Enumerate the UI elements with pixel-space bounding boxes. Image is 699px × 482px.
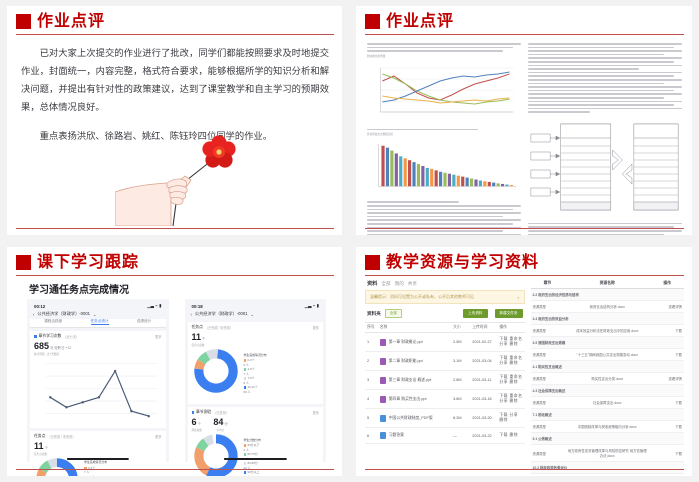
ppt-file-icon [380, 377, 386, 384]
col-name: 名称 [378, 323, 451, 333]
nav-bar: ‹ 公共经济学（财政学）-0001 ⌄ [188, 310, 324, 319]
red-square-bullet-icon [365, 14, 380, 29]
card-more-link[interactable]: 更多 [313, 325, 319, 330]
home-indicator [224, 458, 286, 461]
legend-value: 60 人 [244, 390, 267, 395]
resource-type: 资源类型 [531, 325, 565, 337]
card-title: 任务点 [34, 434, 45, 439]
line-chart [367, 60, 521, 127]
donut-legend: 学生完成情况分布 0-3个 6 人 4-6个 7 人 7-9个 8 人 10-1… [244, 353, 267, 395]
bar-chart [367, 138, 521, 199]
row-size: 3.1M [451, 352, 470, 371]
row-no: 6 [365, 428, 378, 444]
col-time: 上传时间 [470, 323, 497, 333]
chapter-table: 章节 资源名称 操作 3.2 政府支出的经济性质与结构 资源类型 政府支出结构分… [531, 279, 685, 476]
card-title: 任务点 [192, 325, 203, 330]
section-row: 3.2 政府支出的经济性质与结构 [531, 289, 685, 301]
resource-row[interactable]: 资源类型 成本效益分析法在财政支出中的应用.docx 下载 [531, 325, 685, 337]
resource-row[interactable]: 资源类型 "十三五"期间我国公共支出规模变动.docx 下载 [531, 349, 685, 361]
folder-icon [380, 432, 386, 439]
notice-text: 温馨提示：资料可设置为公开或私有，公开后其他教师可见 [370, 294, 474, 300]
page-title: 教学资源与学习资料 [386, 254, 539, 270]
resource-name: 成本效益分析法在财政支出中的应用.docx [564, 325, 650, 337]
line-chart-caption: 财政收支趋势图 [367, 54, 521, 58]
metric-number-2: 84 [213, 417, 223, 427]
resource-row[interactable]: 资源类型 社会保障支出.docx 下载 [531, 397, 685, 409]
row-no: 1 [365, 333, 378, 352]
breadcrumb: 资料 全部 我的 共享 [365, 279, 525, 290]
slide-after-class-tracking: 课下学习跟踪 学习通任务点完成情况 00:12 ▁▃ ⌁ ▮ ‹ 公共经济学（财… [7, 247, 342, 476]
resource-action[interactable]: 下载 [650, 325, 684, 337]
flow-diagram [528, 120, 682, 221]
card-chapter-quiz: 章节测验 （已发布） 更多 6个 84分 测验总数 平均分 [188, 407, 324, 476]
metric-unit: 个 [45, 446, 48, 450]
document-left-column: 财政收支趋势图 [367, 43, 521, 235]
section-label: 4.1 购买性支出概述 [531, 361, 685, 373]
metric-value: 685次较昨日 +12 [34, 341, 162, 351]
row-size: 2.8M [451, 371, 470, 390]
metric-number: 6 [192, 417, 197, 427]
nav-bar: ‹ 公共经济学（财政学）-0001 ⌄ [30, 310, 166, 319]
file-table-header-row: 序号 名称 大小 上传时间 操作 [365, 323, 525, 333]
row-name: 中国公共财政制度_PDF版 [378, 409, 451, 428]
slide-title-row: 教学资源与学习资料 [356, 247, 692, 273]
table-row[interactable]: 2 第二章 财政职能.ppt 3.1M 2021-03-04 下载 重命名 分享… [365, 352, 525, 371]
row-time: 2021-03-22 [470, 428, 497, 444]
row-no: 3 [365, 371, 378, 390]
row-actions[interactable]: 下载 删除 [497, 428, 524, 444]
row-actions[interactable]: 下载 重命名 分享 删除 [497, 352, 524, 371]
card-task-point: 任务点 （已完成 / 未完成） 更多 11个 任务点总数 [188, 322, 324, 404]
toolbar-label: 资料夹 [367, 311, 381, 317]
resource-name: 社会保障支出.docx [564, 397, 650, 409]
nav-title: 公共经济学（财政学）-0001 [195, 311, 248, 317]
section-subtitle: 学习通任务点完成情况 [7, 276, 342, 296]
legend-label: 80-89分 [248, 461, 258, 465]
ppt-file-icon [380, 396, 386, 403]
metric-unit: 个 [202, 337, 205, 341]
back-icon[interactable]: ‹ [33, 312, 34, 317]
row-name: 第二章 财政职能.ppt [378, 352, 451, 371]
legend-label: 4-6个 [88, 475, 95, 476]
chevron-down-icon[interactable]: ⌄ [251, 312, 255, 317]
bottom-divider [365, 469, 684, 470]
section-label: 3.5 我国财政支出规模 [531, 337, 685, 349]
file-table: 序号 名称 大小 上传时间 操作 1 第一章 财政概论.ppt [365, 322, 525, 444]
resource-name: "十三五"期间我国公共支出规模变动.docx [564, 349, 650, 361]
section-label: 9.1 公债概述 [531, 433, 685, 445]
bottom-divider [16, 228, 334, 229]
slide-homework-review-text: 作业点评 已对大家上次提交的作业进行了批改，同学们都能按照要求及时地提交作业，封… [7, 6, 342, 235]
legend-value: 48 人 [244, 475, 261, 476]
table-row[interactable]: 6 习题答案 — 2021-03-22 下载 删除 [365, 428, 525, 444]
metric-unit: 个 [198, 422, 201, 426]
row-time: 2021-03-20 [470, 409, 497, 428]
resource-name: 地方政府性债务管理改革与风险防控研究 地方债管理办法.docx [564, 445, 650, 462]
bottom-divider [365, 228, 684, 229]
col-resource: 资源名称 [564, 279, 650, 289]
section-row: 3.4 政府支出的效益分析 [531, 313, 685, 325]
row-no: 5 [365, 409, 378, 428]
legend-label: 60-79分 [248, 452, 258, 456]
resource-action[interactable]: 下载 [650, 445, 684, 462]
section-label: 4.3 社会保障支出概述 [531, 385, 685, 397]
red-square-bullet-icon [16, 255, 31, 270]
phone-screenshot-right: 00:18 ▁▃ ⌁ ▮ ‹ 公共经济学（财政学）-0001 ⌄ 任务点 （已完… [185, 299, 327, 462]
card-marker-icon [34, 335, 37, 338]
resource-action[interactable]: 下载 [650, 349, 684, 361]
resource-name: 财政政策 [564, 474, 650, 477]
section-row: 3.5 我国财政支出规模 [531, 337, 685, 349]
page-title: 作业点评 [37, 13, 105, 29]
card-more-link[interactable]: 更多 [155, 434, 161, 439]
tab-activity[interactable]: 课程活跃度 [44, 319, 62, 325]
card-subtitle: （已发布） [213, 410, 229, 415]
metric-value: 11个 [192, 332, 320, 342]
breadcrumb-item-all[interactable]: 全部 [381, 281, 390, 287]
legend-title: 学生完成情况分布 [84, 460, 107, 465]
resource-row[interactable]: 资源类型 购买性支出分类.docx 查看详情 [531, 373, 685, 385]
section-label: 10.2 财政政策效果评价 [531, 462, 685, 474]
section-label: 3.4 政府支出的效益分析 [531, 313, 685, 325]
ppt-file-icon [380, 358, 386, 365]
slide-grid: 作业点评 已对大家上次提交的作业进行了批改，同学们都能按照要求及时地提交作业，封… [0, 0, 699, 482]
row-no: 2 [365, 352, 378, 371]
metric-unit: 次 [50, 346, 53, 350]
resource-action[interactable]: 下载 [650, 397, 684, 409]
row-size: 8.2M [451, 409, 470, 428]
legend-label: 4-6个 [248, 367, 255, 371]
card-marker-icon [192, 411, 195, 414]
row-actions[interactable]: 下载 重命名 分享 删除 [497, 333, 524, 352]
nav-title: 公共经济学（财政学）-0001 [37, 311, 90, 317]
row-no: 4 [365, 390, 378, 409]
slide-title-row: 作业点评 [356, 6, 692, 32]
table-row[interactable]: 1 第一章 财政概论.ppt 2.5M 2021-02-27 下载 重命名 分享… [365, 333, 525, 352]
row-time: 2021-02-27 [470, 333, 497, 352]
slide-title-row: 课下学习跟踪 [7, 247, 342, 273]
pdf-file-icon [380, 415, 386, 422]
status-time: 00:12 [34, 304, 45, 309]
row-actions[interactable]: 下载 分享 删除 [497, 409, 524, 428]
chapter-resources-panel: 章节 资源名称 操作 3.2 政府支出的经济性质与结构 资源类型 政府支出结构分… [531, 279, 685, 463]
document-right-column [528, 43, 682, 235]
donut-chart [192, 347, 240, 400]
resource-action[interactable]: 查看详情 [650, 474, 684, 477]
tab-taskpoint[interactable]: 任务点统计 [91, 319, 109, 325]
row-actions[interactable]: 下载 重命名 分享 删除 [497, 371, 524, 390]
resource-action[interactable]: 查看详情 [650, 373, 684, 385]
status-bar: 00:18 ▁▃ ⌁ ▮ [188, 302, 324, 310]
line-chart [34, 356, 162, 424]
legend-title: 学生分数分布 [244, 438, 261, 443]
title-divider [365, 275, 684, 276]
legend-label: 7-9个 [248, 376, 255, 380]
resource-type: 资源类型 [531, 421, 565, 433]
col-action: 操作 [650, 279, 684, 289]
col-no: 序号 [365, 323, 378, 333]
notice-banner: 温馨提示：资料可设置为公开或私有，公开后其他教师可见 × [365, 290, 525, 304]
slide-teaching-resources: 教学资源与学习资料 资料 全部 我的 共享 温馨提示：资料可设置为公开或私有，公… [356, 247, 692, 476]
legend-label: 10-11个 [248, 385, 258, 389]
resource-type: 资源类型 [531, 445, 565, 462]
resource-row[interactable]: 资源类型 中国税制改革与税收政策取向分析.docx 下载 [531, 421, 685, 433]
section-row: 4.1 购买性支出概述 [531, 361, 685, 373]
legend-title: 学生完成情况分布 [244, 353, 267, 358]
breadcrumb-item-mine[interactable]: 我的 [395, 281, 404, 287]
section-row: 7.1 税收概述 [531, 409, 685, 421]
card-subtitle: （已完成 / 未完成） [205, 325, 233, 330]
section-row: 4.3 社会保障支出概述 [531, 385, 685, 397]
chevron-down-icon[interactable]: ⌄ [93, 312, 97, 317]
resource-type: 资源类型 [531, 373, 565, 385]
card-subtitle: （已完成 / 未完成） [47, 434, 75, 439]
file-manager-panel: 资料 全部 我的 共享 温馨提示：资料可设置为公开或私有，公开后其他教师可见 ×… [365, 279, 525, 463]
resource-action[interactable]: 查看详情 [650, 301, 684, 313]
breadcrumb-root: 资料 [367, 280, 377, 287]
breadcrumb-item-shared[interactable]: 共享 [408, 281, 417, 287]
section-label: 7.1 税收概述 [531, 409, 685, 421]
resource-name: 购买性支出分类.docx [564, 373, 650, 385]
section-label: 3.2 政府支出的经济性质与结构 [531, 289, 685, 301]
card-subtitle: （近七天） [63, 334, 79, 339]
bottom-divider [16, 469, 334, 470]
resource-type: 资源类型 [531, 474, 565, 477]
back-icon[interactable]: ‹ [191, 312, 192, 317]
upload-button[interactable]: 上传资料 [463, 309, 487, 318]
page-title: 课下学习跟踪 [37, 254, 139, 270]
row-name: 习题答案 [378, 428, 451, 444]
status-time: 00:18 [192, 304, 203, 309]
card-more-link[interactable]: 更多 [313, 410, 319, 415]
resource-action[interactable]: 下载 [650, 421, 684, 433]
col-chapter: 章节 [531, 279, 565, 289]
row-time: 2021-03-04 [470, 352, 497, 371]
resource-type: 资源类型 [531, 349, 565, 361]
metric-unit-2: 分 [224, 422, 227, 426]
card-title: 章节测验 [196, 410, 211, 415]
slide-homework-review-sample: 作业点评 财政收支趋势图 [356, 6, 692, 235]
red-square-bullet-icon [16, 14, 31, 29]
metric-value: 6个 84分 [192, 417, 320, 427]
row-time: 2021-03-11 [470, 371, 497, 390]
section-row: 9.1 公债概述 [531, 433, 685, 445]
table-row[interactable]: 4 第四章 购买性支出.ppt 3.6M 2021-03-18 下载 重命名 分… [365, 390, 525, 409]
metric-value: 11个 [34, 441, 162, 451]
metric-number: 685 [34, 341, 49, 351]
section-row: 10.2 财政政策效果评价 [531, 462, 685, 474]
chapter-table-header-row: 章节 资源名称 操作 [531, 279, 685, 289]
status-icons: ▁▃ ⌁ ▮ [147, 303, 161, 309]
resources-screenshot: 资料 全部 我的 共享 温馨提示：资料可设置为公开或私有，公开后其他教师可见 ×… [365, 279, 684, 463]
row-time: 2021-03-18 [470, 390, 497, 409]
new-folder-button[interactable]: 新建文件夹 [495, 309, 523, 318]
card-title: 章节学习次数 [39, 334, 62, 339]
legend-label: 90分以上 [248, 470, 260, 474]
table-row[interactable]: 3 第三章 财政支出 概述.ppt 2.8M 2021-03-11 下载 重命名… [365, 371, 525, 390]
row-name: 第四章 购买性支出.ppt [378, 390, 451, 409]
col-size: 大小 [451, 323, 470, 333]
tab-bar: 课程活跃度 任务点统计 成绩统计 [30, 319, 166, 328]
hand-holding-flower-illustration [115, 130, 265, 226]
phone-screenshot-left: 00:12 ▁▃ ⌁ ▮ ‹ 公共经济学（财政学）-0001 ⌄ 课程活跃度 任… [27, 299, 169, 462]
resource-row[interactable]: 资源类型 政府支出结构分析.docx 查看详情 [531, 301, 685, 313]
ppt-file-icon [380, 339, 386, 346]
resource-type: 资源类型 [531, 397, 565, 409]
row-name: 第三章 财政支出 概述.ppt [378, 371, 451, 390]
resource-type: 资源类型 [531, 301, 565, 313]
metric-number: 11 [192, 332, 202, 342]
close-icon[interactable]: × [517, 295, 519, 300]
resource-row[interactable]: 资源类型 财政政策 查看详情 [531, 474, 685, 477]
home-indicator [67, 458, 129, 461]
homework-document-scan: 财政收支趋势图 [365, 40, 684, 221]
resource-row[interactable]: 资源类型 地方政府性债务管理改革与风险防控研究 地方债管理办法.docx 下载 [531, 445, 685, 462]
metric-number: 11 [34, 441, 44, 451]
legend-label: 0-3个 [248, 358, 255, 362]
status-icons: ▁▃ ⌁ ▮ [305, 303, 319, 309]
phone-screenshots: 00:12 ▁▃ ⌁ ▮ ‹ 公共经济学（财政学）-0001 ⌄ 课程活跃度 任… [27, 299, 326, 462]
card-chapter-study-count: 章节学习次数 （近七天） 更多 685次较昨日 +12 统计周期：近7天数据 [30, 331, 166, 428]
col-actions: 操作 [497, 323, 524, 333]
row-size: 2.5M [451, 333, 470, 352]
resource-name: 中国税制改革与税收政策取向分析.docx [564, 421, 650, 433]
status-bar: 00:12 ▁▃ ⌁ ▮ [30, 302, 166, 310]
bar-chart-caption: 各省财政支出规模比较 [367, 132, 521, 136]
page-title: 作业点评 [386, 13, 454, 29]
row-size: 3.6M [451, 390, 470, 409]
legend-label: 60分以下 [248, 443, 260, 447]
row-actions[interactable]: 下载 重命名 分享 删除 [497, 390, 524, 409]
row-size: — [451, 428, 470, 444]
folder-chip[interactable]: 全部 [385, 309, 402, 318]
slide-title-row: 作业点评 [7, 6, 342, 32]
tab-score[interactable]: 成绩统计 [137, 319, 151, 325]
metric-delta: 较昨日 +12 [54, 346, 71, 350]
title-divider [365, 34, 684, 35]
table-row[interactable]: 5 中国公共财政制度_PDF版 8.2M 2021-03-20 下载 分享 删除 [365, 409, 525, 428]
row-name: 第一章 财政概论.ppt [378, 333, 451, 352]
file-toolbar: 资料夹 全部 上传资料 新建文件夹 [365, 308, 525, 322]
resource-name: 政府支出结构分析.docx [564, 301, 650, 313]
red-square-bullet-icon [365, 255, 380, 270]
paragraph-1: 已对大家上次提交的作业进行了批改，同学们都能按照要求及时地提交作业，封面统一，内… [21, 45, 329, 118]
card-more-link[interactable]: 更多 [155, 334, 161, 339]
